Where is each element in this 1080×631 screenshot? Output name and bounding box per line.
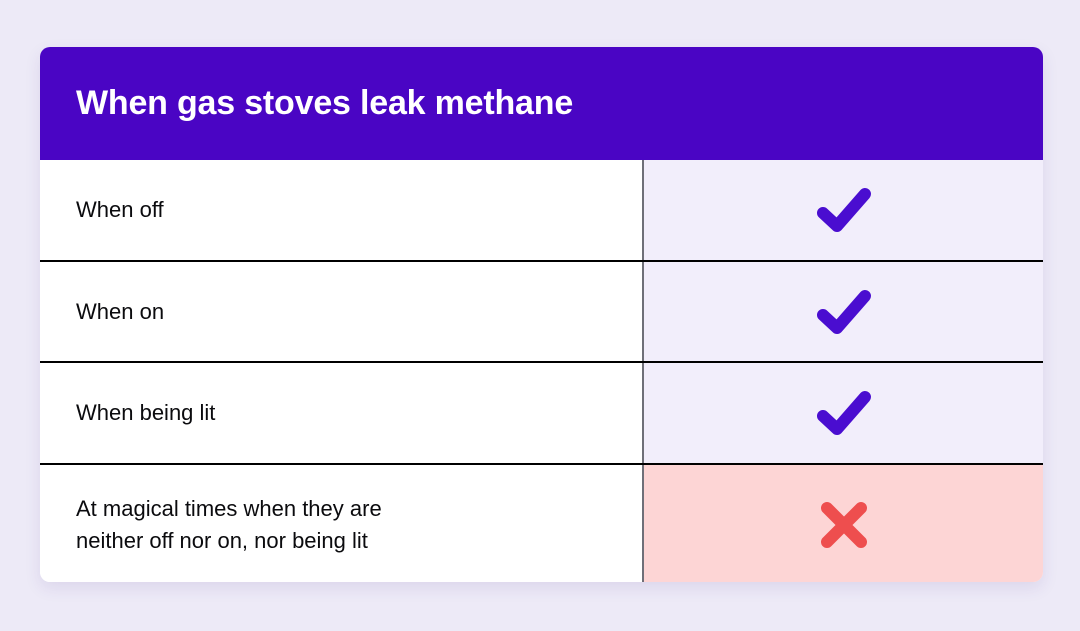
- table-row: When on: [40, 260, 1043, 361]
- check-icon: [816, 187, 872, 233]
- table-body: When off When on: [40, 160, 1043, 582]
- row-label: When being lit: [76, 397, 215, 428]
- table-row: At magical times when they are neither o…: [40, 463, 1043, 582]
- table-cell-label: When being lit: [40, 363, 644, 463]
- row-label: When on: [76, 296, 164, 327]
- table-cell-mark: [644, 363, 1043, 463]
- page-title: When gas stoves leak methane: [76, 85, 573, 122]
- page-root: When gas stoves leak methane When off Wh…: [0, 0, 1080, 631]
- row-label-line-1: At magical times when they are: [76, 496, 382, 521]
- table-row: When off: [40, 160, 1043, 260]
- table-cell-label: At magical times when they are neither o…: [40, 465, 644, 582]
- card-header: When gas stoves leak methane: [40, 47, 1043, 160]
- check-icon: [816, 289, 872, 335]
- row-label: When off: [76, 194, 164, 225]
- check-icon: [816, 390, 872, 436]
- table-cell-label: When off: [40, 160, 644, 260]
- row-label-line-2: neither off nor on, nor being lit: [76, 525, 382, 556]
- table-cell-mark: [644, 465, 1043, 582]
- comparison-table-card: When gas stoves leak methane When off Wh…: [40, 47, 1043, 582]
- table-cell-mark: [644, 160, 1043, 260]
- cross-icon: [818, 499, 870, 551]
- row-label: At magical times when they are neither o…: [76, 493, 382, 555]
- table-cell-label: When on: [40, 262, 644, 361]
- table-row: When being lit: [40, 361, 1043, 463]
- table-cell-mark: [644, 262, 1043, 361]
